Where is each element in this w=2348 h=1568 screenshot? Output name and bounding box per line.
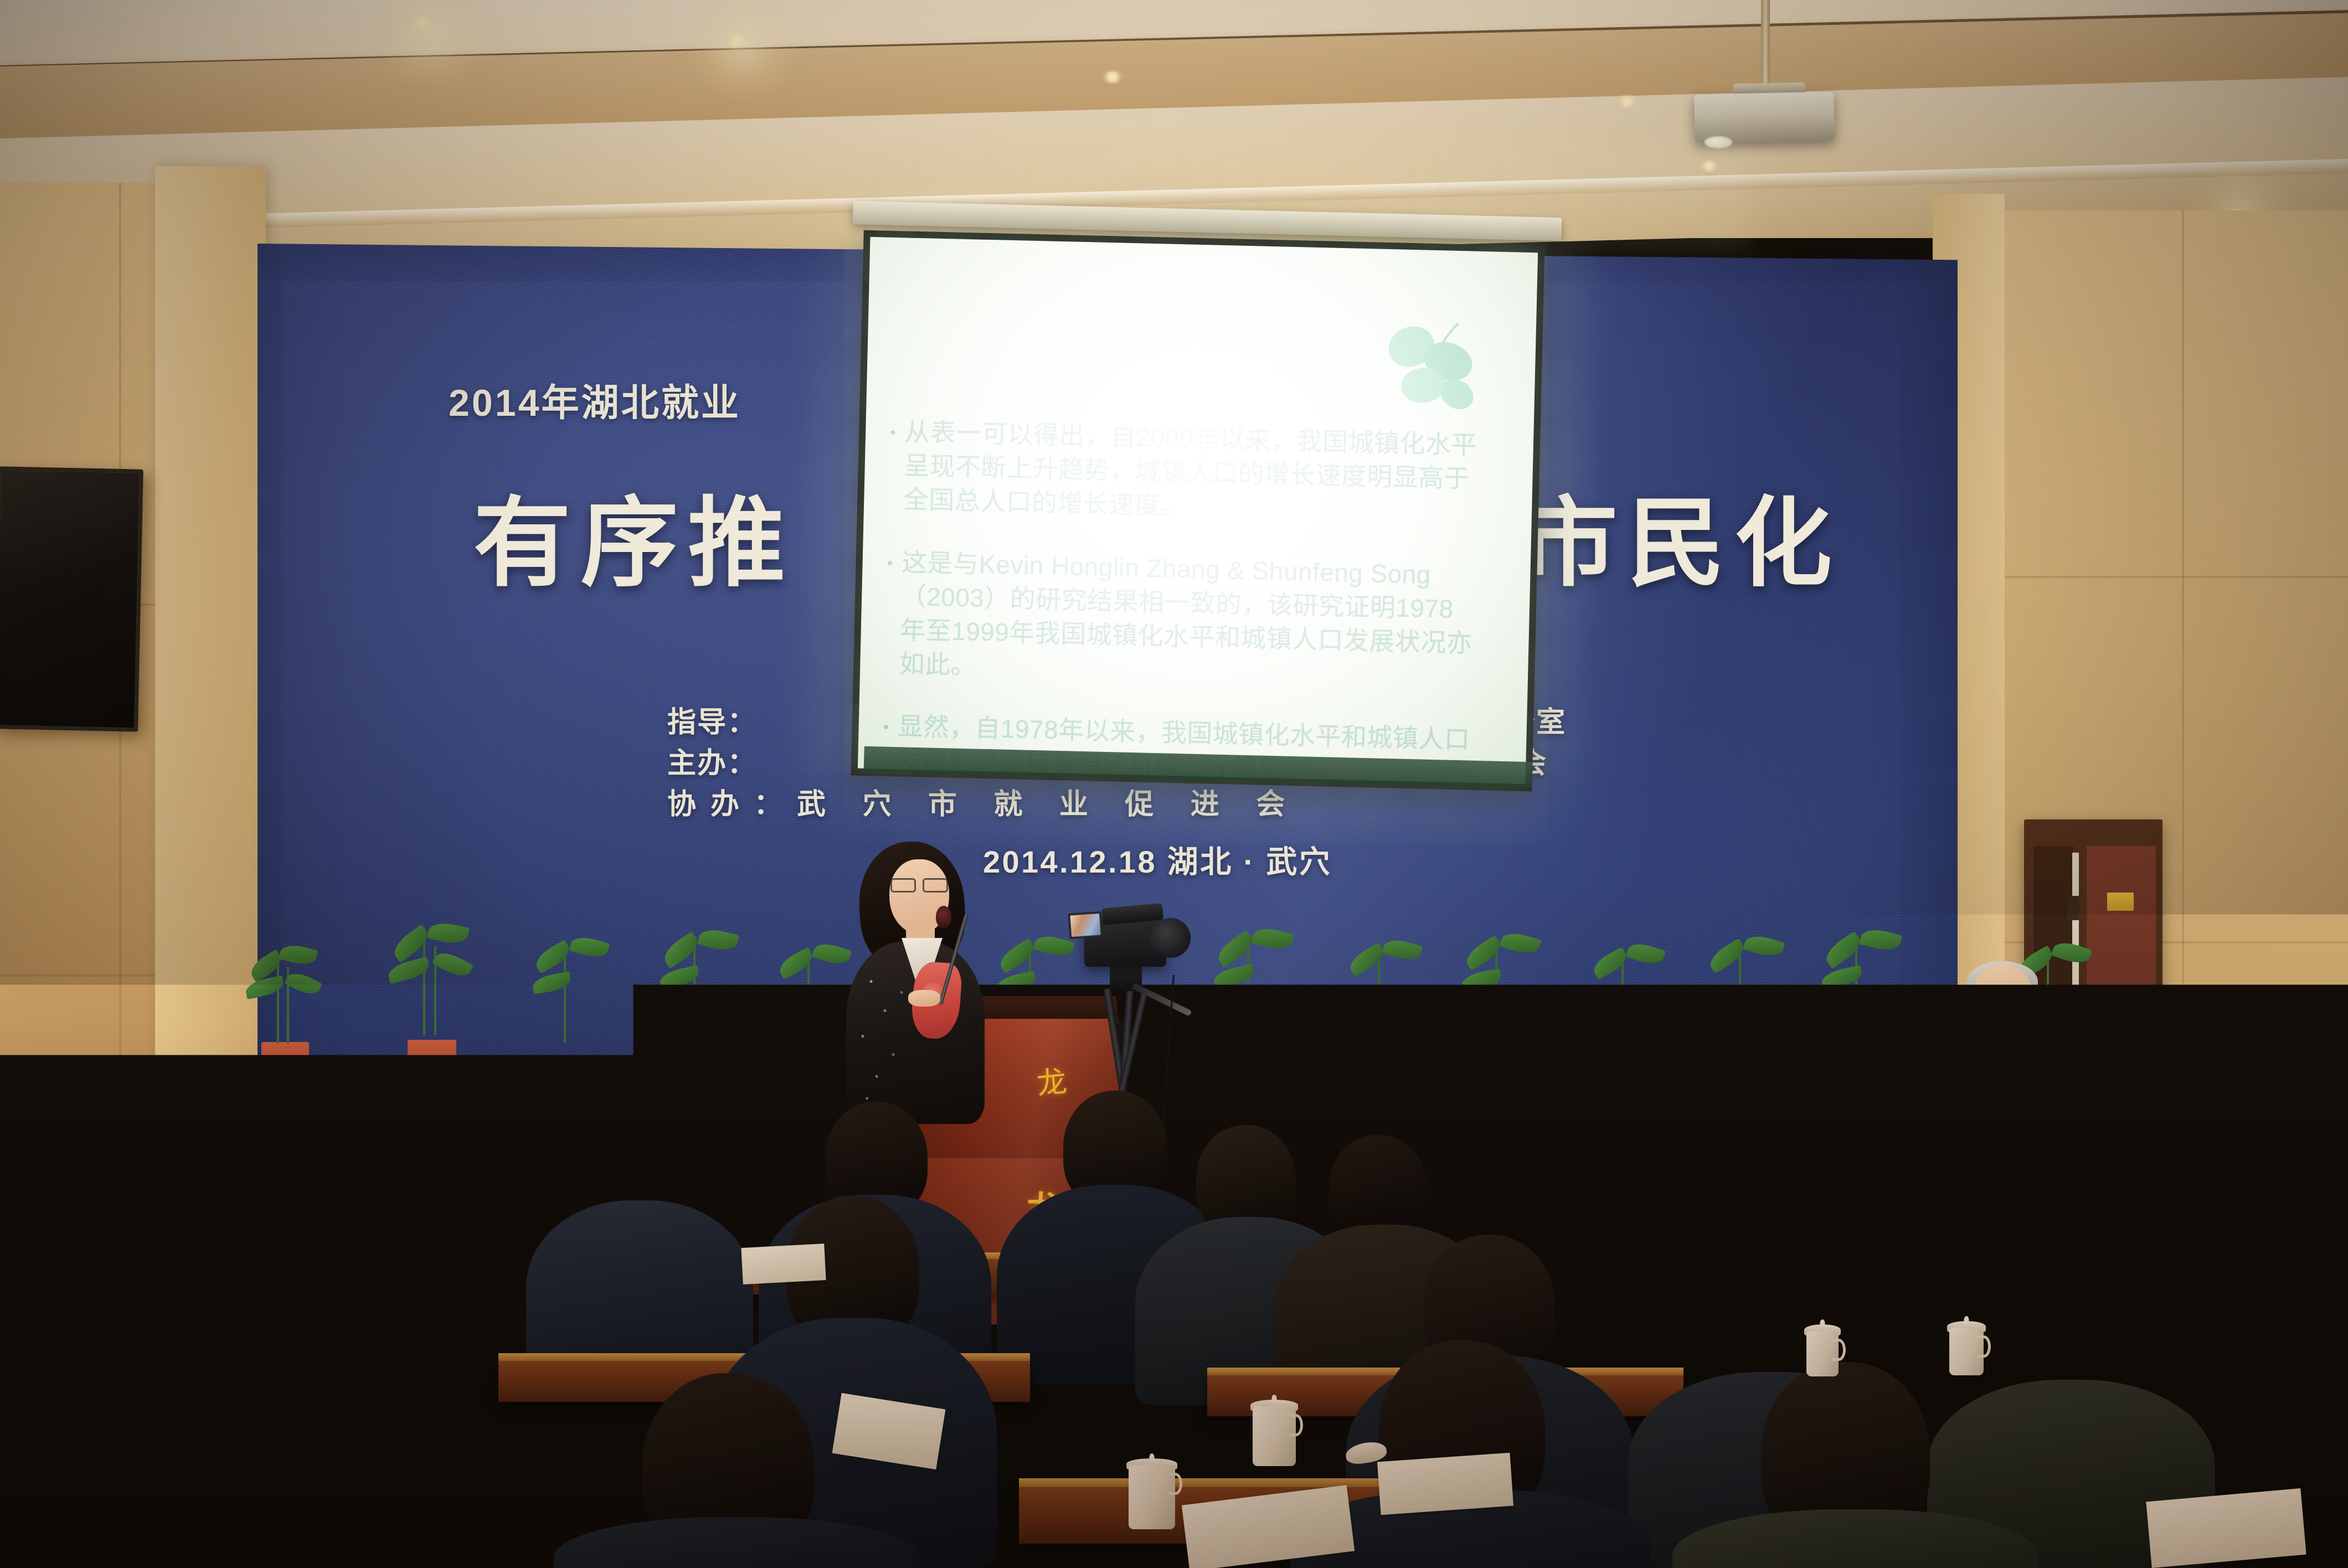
banner-year-line: 2014年湖北就业 — [449, 372, 741, 427]
banner-guide-label: 指导： — [667, 699, 757, 740]
teacup — [277, 1376, 311, 1432]
teacup — [166, 1389, 203, 1446]
downlight-icon — [1617, 95, 1637, 107]
potted-plant — [1589, 936, 1672, 1105]
bullet-dot-icon: • — [887, 555, 893, 571]
wall-mounted-display — [0, 466, 143, 731]
potted-plant — [532, 930, 615, 1102]
teacup — [1129, 1458, 1175, 1529]
nameplate-text: 周胜元 — [1859, 1075, 1901, 1094]
teacup — [94, 1265, 127, 1318]
teacup — [1949, 1321, 1984, 1375]
slide-bullet-item: • 这是与Kevin Honglin Zhang & Shunfeng Song… — [884, 545, 1480, 694]
audience-nameplate-text: 鄂州市 — [106, 1352, 165, 1379]
camera-lcd-screen — [1068, 911, 1103, 939]
potted-plant — [659, 925, 745, 1102]
eyeglasses-icon — [890, 878, 948, 889]
head-table-brass-emblem — [1957, 1074, 1985, 1103]
projector-lens-icon — [1705, 136, 1732, 148]
downlight-icon — [1700, 161, 1718, 172]
downlight-icon — [1102, 71, 1123, 83]
audience-nameplate: 鄂州市 — [83, 1345, 188, 1384]
leaf-watermark-icon — [1369, 315, 1487, 423]
left-wall-column — [155, 166, 266, 1285]
official-head — [1971, 964, 2033, 1038]
slide-bullet-list: • 从表一可以得出，自2000年以来，我国城镇化水平呈现不断上升趋势，城镇人口的… — [881, 415, 1482, 784]
banner-main-title-left: 有序推 — [473, 464, 795, 605]
teacup — [1253, 1400, 1296, 1466]
document-paper — [741, 1244, 826, 1285]
document-paper — [1377, 1453, 1513, 1515]
official-lapel-badge — [2036, 1065, 2050, 1075]
door-handle[interactable] — [2067, 896, 2079, 920]
microphone-base — [2086, 1089, 2134, 1101]
downlight-icon — [725, 34, 748, 48]
downlight-icon — [410, 16, 433, 30]
potted-plant — [1462, 927, 1546, 1102]
projection-screen: • 从表一可以得出，自2000年以来，我国城镇化水平呈现不断上升趋势，城镇人口的… — [858, 237, 1538, 784]
potted-plant — [1213, 925, 1300, 1102]
slide-bullet-item: • 从表一可以得出，自2000年以来，我国城镇化水平呈现不断上升趋势，城镇人口的… — [888, 415, 1483, 530]
potted-plant — [1346, 933, 1429, 1105]
slide-bullet-text: 这是与Kevin Honglin Zhang & Shunfeng Song（2… — [899, 545, 1480, 694]
door-sign-plate — [2107, 893, 2134, 911]
teacup — [1806, 1324, 1839, 1376]
podium-dragon-emblem-icon: 龙 — [1036, 1066, 1076, 1097]
slide-bullet-text: 从表一可以得出，自2000年以来，我国城镇化水平呈现不断上升趋势，城镇人口的增长… — [903, 415, 1483, 530]
official-nameplate: 周胜元 — [1845, 1070, 1915, 1098]
microphone-tip-icon — [2108, 1029, 2115, 1040]
potted-plant — [244, 936, 327, 1102]
bullet-dot-icon: • — [883, 719, 889, 736]
potted-plant — [1706, 930, 1790, 1103]
podium-microphone-head-icon — [936, 906, 951, 928]
bullet-dot-icon: • — [890, 425, 896, 441]
document-paper — [2146, 1488, 2306, 1568]
banner-coorganizer-line: 协办：武 穴 市 就 业 促 进 会 — [667, 781, 1299, 822]
conference-hall-photo: 2014年湖北就业 有序推 市民化 指导： 主办： 协办：武 穴 市 就 业 促… — [0, 0, 2348, 1568]
banner-date-location: 2014.12.18 湖北 · 武穴 — [983, 837, 1332, 882]
banner-host-label: 主办： — [667, 740, 757, 781]
ceiling-projector — [1694, 91, 1835, 143]
projector-mount-pole — [1761, 0, 1770, 97]
potted-plant — [388, 919, 476, 1102]
speaker-hand — [908, 990, 940, 1007]
camera-lens-icon — [1151, 918, 1191, 958]
audience-nameplate — [1623, 1290, 1683, 1316]
tea-glass — [2001, 1059, 2023, 1108]
document-paper — [1611, 1239, 1701, 1275]
teacup — [2232, 1262, 2263, 1313]
banner-main-title-right: 市民化 — [1520, 464, 1842, 605]
